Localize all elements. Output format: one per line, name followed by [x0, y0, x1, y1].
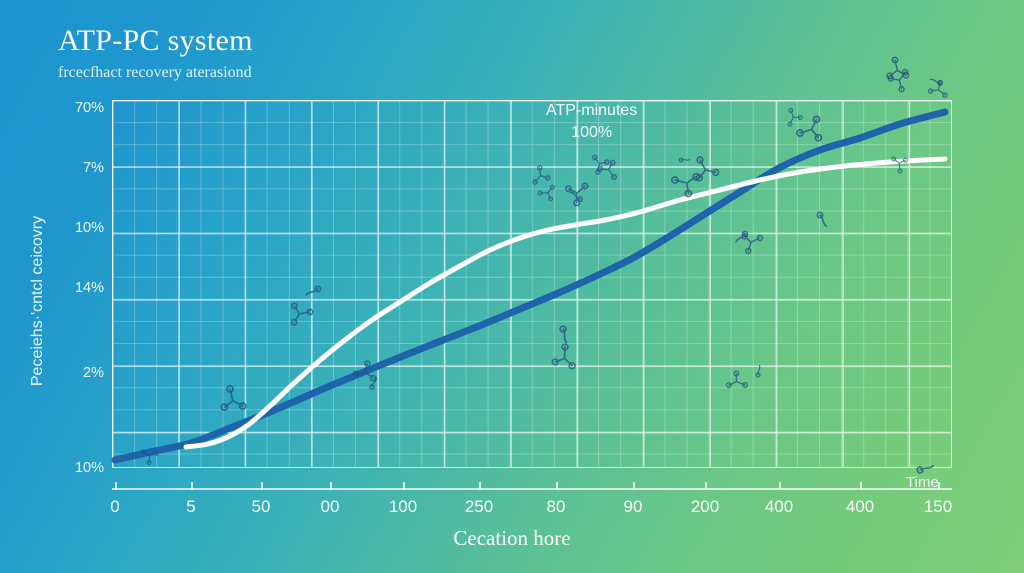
- x-axis-tickmark: [330, 482, 332, 490]
- series-layer: [112, 100, 952, 468]
- y-axis-tick-label: 10%: [42, 460, 104, 476]
- y-axis-tick-label: 14%: [42, 280, 104, 296]
- y-axis-tick-label: 10%: [42, 220, 104, 236]
- series-line-white-line: [186, 159, 945, 447]
- x-axis-tick-label: 150: [924, 497, 952, 517]
- x-axis-tick-label: 250: [465, 497, 493, 517]
- x-axis-tickmark: [705, 482, 707, 490]
- molecule-icon: [887, 68, 907, 92]
- x-axis-tick-label: 400: [846, 497, 874, 517]
- y-axis-title: Peceiehs·'cntcl ceicovry: [29, 151, 47, 451]
- y-axis-tick-label: 70%: [42, 100, 104, 116]
- y-axis-ticks: 70%7%10%14%2%10%: [38, 0, 104, 573]
- x-axis-tickmark: [261, 482, 263, 490]
- series-line-blue-line: [115, 112, 945, 460]
- x-axis-tick-label: 5: [186, 497, 195, 517]
- x-axis-tick-label: 80: [547, 497, 566, 517]
- y-axis-tick-label: 2%: [42, 365, 104, 381]
- time-corner-label: Time: [906, 474, 939, 491]
- atp-annotation-line2: 100%: [546, 122, 637, 144]
- molecule-icon: [928, 79, 949, 98]
- x-axis-tick-label: 90: [624, 497, 643, 517]
- x-axis-tick-label: 0: [110, 497, 119, 517]
- x-axis-tick-label: 400: [765, 497, 793, 517]
- x-axis-tick-label: 100: [389, 497, 417, 517]
- x-axis-tickmark: [479, 482, 481, 490]
- x-axis-tick-label: 200: [691, 497, 719, 517]
- x-axis-tick-label: 00: [321, 497, 340, 517]
- atp-annotation-line1: ATP-minutes: [546, 100, 637, 122]
- x-axis-tickmark: [191, 482, 193, 490]
- x-axis-tickmark: [556, 482, 558, 490]
- plot-area: [112, 100, 952, 468]
- x-axis-title: Cecation hore: [0, 526, 1024, 551]
- atp-annotation: ATP-minutes 100%: [546, 100, 637, 143]
- x-axis-tickmark: [403, 482, 405, 490]
- chart-canvas: ATP-PC system frcecfhact recovery ateras…: [0, 0, 1024, 573]
- molecule-icon: [930, 75, 943, 88]
- x-axis-tick-label: 50: [252, 497, 271, 517]
- x-axis-ticks: 0550001002508090200400400150: [0, 497, 1024, 523]
- x-axis-tickmark: [115, 482, 117, 490]
- x-axis-line: [112, 488, 952, 490]
- x-axis-tickmark: [860, 482, 862, 490]
- molecule-icon: [880, 56, 911, 87]
- x-axis-tickmark: [779, 482, 781, 490]
- y-axis-tick-label: 7%: [42, 160, 104, 176]
- x-axis-tickmark: [633, 482, 635, 490]
